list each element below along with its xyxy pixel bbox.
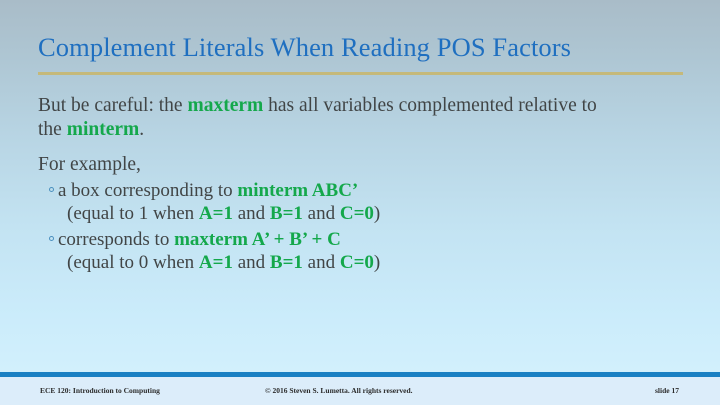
bullet-1-condition-line: (equal to 1 when A=1 and B=1 and C=0) (58, 202, 598, 225)
bullet-2-var-b: B=1 (270, 252, 303, 273)
bullet-2-cond-post: ) (374, 252, 380, 273)
hollow-circle-bullet-icon (49, 236, 54, 241)
bullet-1-cond-mid-1: and (233, 203, 270, 224)
bullet-1-var-a: A=1 (199, 203, 233, 224)
bullet-2-cond-mid-1: and (233, 252, 270, 273)
hollow-circle-bullet-icon (49, 187, 54, 192)
bullet-1-cond-mid-2: and (303, 203, 340, 224)
bullet-2-term: maxterm A’ + B’ + C (174, 229, 341, 250)
intro-term-minterm: minterm (67, 119, 140, 140)
page-title: Complement Literals When Reading POS Fac… (38, 30, 684, 64)
bullet-1-cond-post: ) (374, 203, 380, 224)
footer-copyright-label: © 2016 Steven S. Lumetta. All rights res… (265, 386, 413, 395)
bullet-1-var-c: C=0 (340, 203, 374, 224)
bullet-1-term: minterm ABC’ (237, 180, 358, 201)
footer: ECE 120: Introduction to Computing © 201… (0, 377, 720, 405)
bullet-1-var-b: B=1 (270, 203, 303, 224)
footer-slide-number: slide 17 (655, 386, 679, 395)
title-block: Complement Literals When Reading POS Fac… (38, 30, 684, 64)
slide-body: But be careful: the maxterm has all vari… (38, 94, 598, 277)
footer-course-label: ECE 120: Introduction to Computing (40, 386, 160, 395)
bullet-2-cond-mid-2: and (303, 252, 340, 273)
bullet-1-text-pre: a box corresponding to (58, 180, 237, 201)
for-example-label: For example, (38, 153, 598, 177)
intro-paragraph: But be careful: the maxterm has all vari… (38, 94, 598, 141)
bullet-2-condition-line: (equal to 0 when A=1 and B=1 and C=0) (58, 251, 598, 274)
intro-text-3: . (139, 119, 144, 140)
intro-term-maxterm: maxterm (187, 95, 263, 116)
bullet-2-var-a: A=1 (199, 252, 233, 273)
bullet-1-cond-pre: (equal to 1 when (67, 203, 199, 224)
bullet-2-var-c: C=0 (340, 252, 374, 273)
title-underline-rule (38, 72, 683, 75)
list-item: a box corresponding to minterm ABC’ (equ… (38, 179, 598, 225)
bullet-2-text-pre: corresponds to (58, 229, 174, 250)
list-item: corresponds to maxterm A’ + B’ + C (equa… (38, 228, 598, 274)
bullet-2-cond-pre: (equal to 0 when (67, 252, 199, 273)
slide-canvas: Complement Literals When Reading POS Fac… (0, 0, 720, 405)
intro-text-1: But be careful: the (38, 95, 187, 116)
example-bullet-list: a box corresponding to minterm ABC’ (equ… (38, 179, 598, 274)
